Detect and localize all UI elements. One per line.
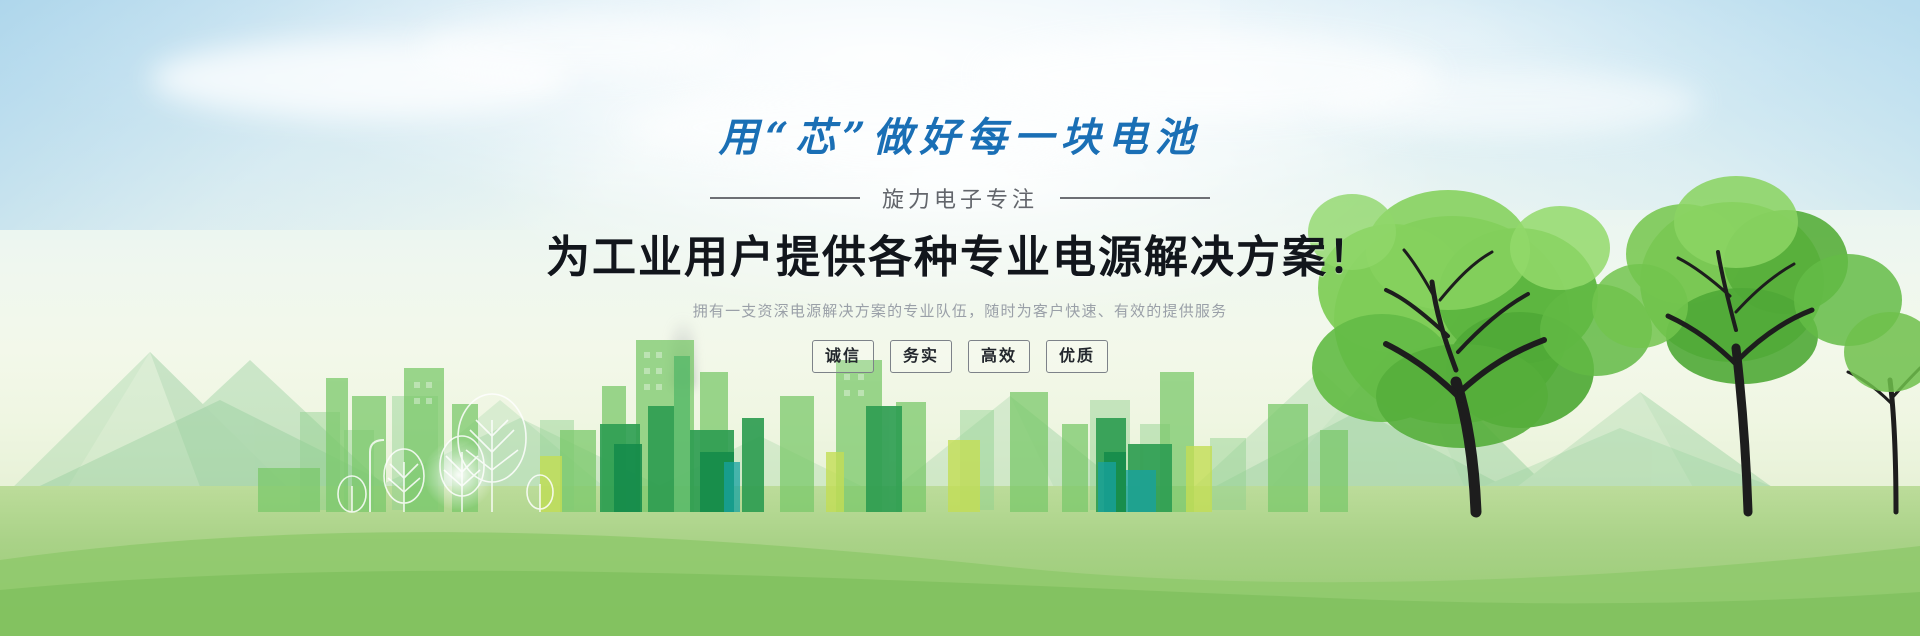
banner-subtitle: 拥有一支资深电源解决方案的专业队伍，随时为客户快速、有效的提供服务 <box>0 300 1920 322</box>
divider-label: 旋力电子专注 <box>882 182 1038 214</box>
hero-banner: 用“芯”做好每一块电池 旋力电子专注 为工业用户提供各种专业电源解决方案！ 拥有… <box>0 0 1920 636</box>
lamp-glow <box>424 440 494 510</box>
tag-item[interactable]: 优质 <box>1046 340 1108 373</box>
tag-item[interactable]: 高效 <box>968 340 1030 373</box>
tag-item[interactable]: 诚信 <box>812 340 874 373</box>
main-headline: 为工业用户提供各种专业电源解决方案！ <box>0 230 1920 286</box>
divider-line-left <box>710 197 860 199</box>
tag-list: 诚信 务实 高效 优质 <box>0 340 1920 373</box>
divider-line-right <box>1060 197 1210 199</box>
calligraphy-headline: 用“芯”做好每一块电池 <box>0 112 1920 164</box>
ground-hill-curve <box>0 504 1920 636</box>
banner-content: 用“芯”做好每一块电池 旋力电子专注 为工业用户提供各种专业电源解决方案！ 拥有… <box>0 0 1920 420</box>
tag-item[interactable]: 务实 <box>890 340 952 373</box>
divider-row: 旋力电子专注 <box>0 182 1920 214</box>
